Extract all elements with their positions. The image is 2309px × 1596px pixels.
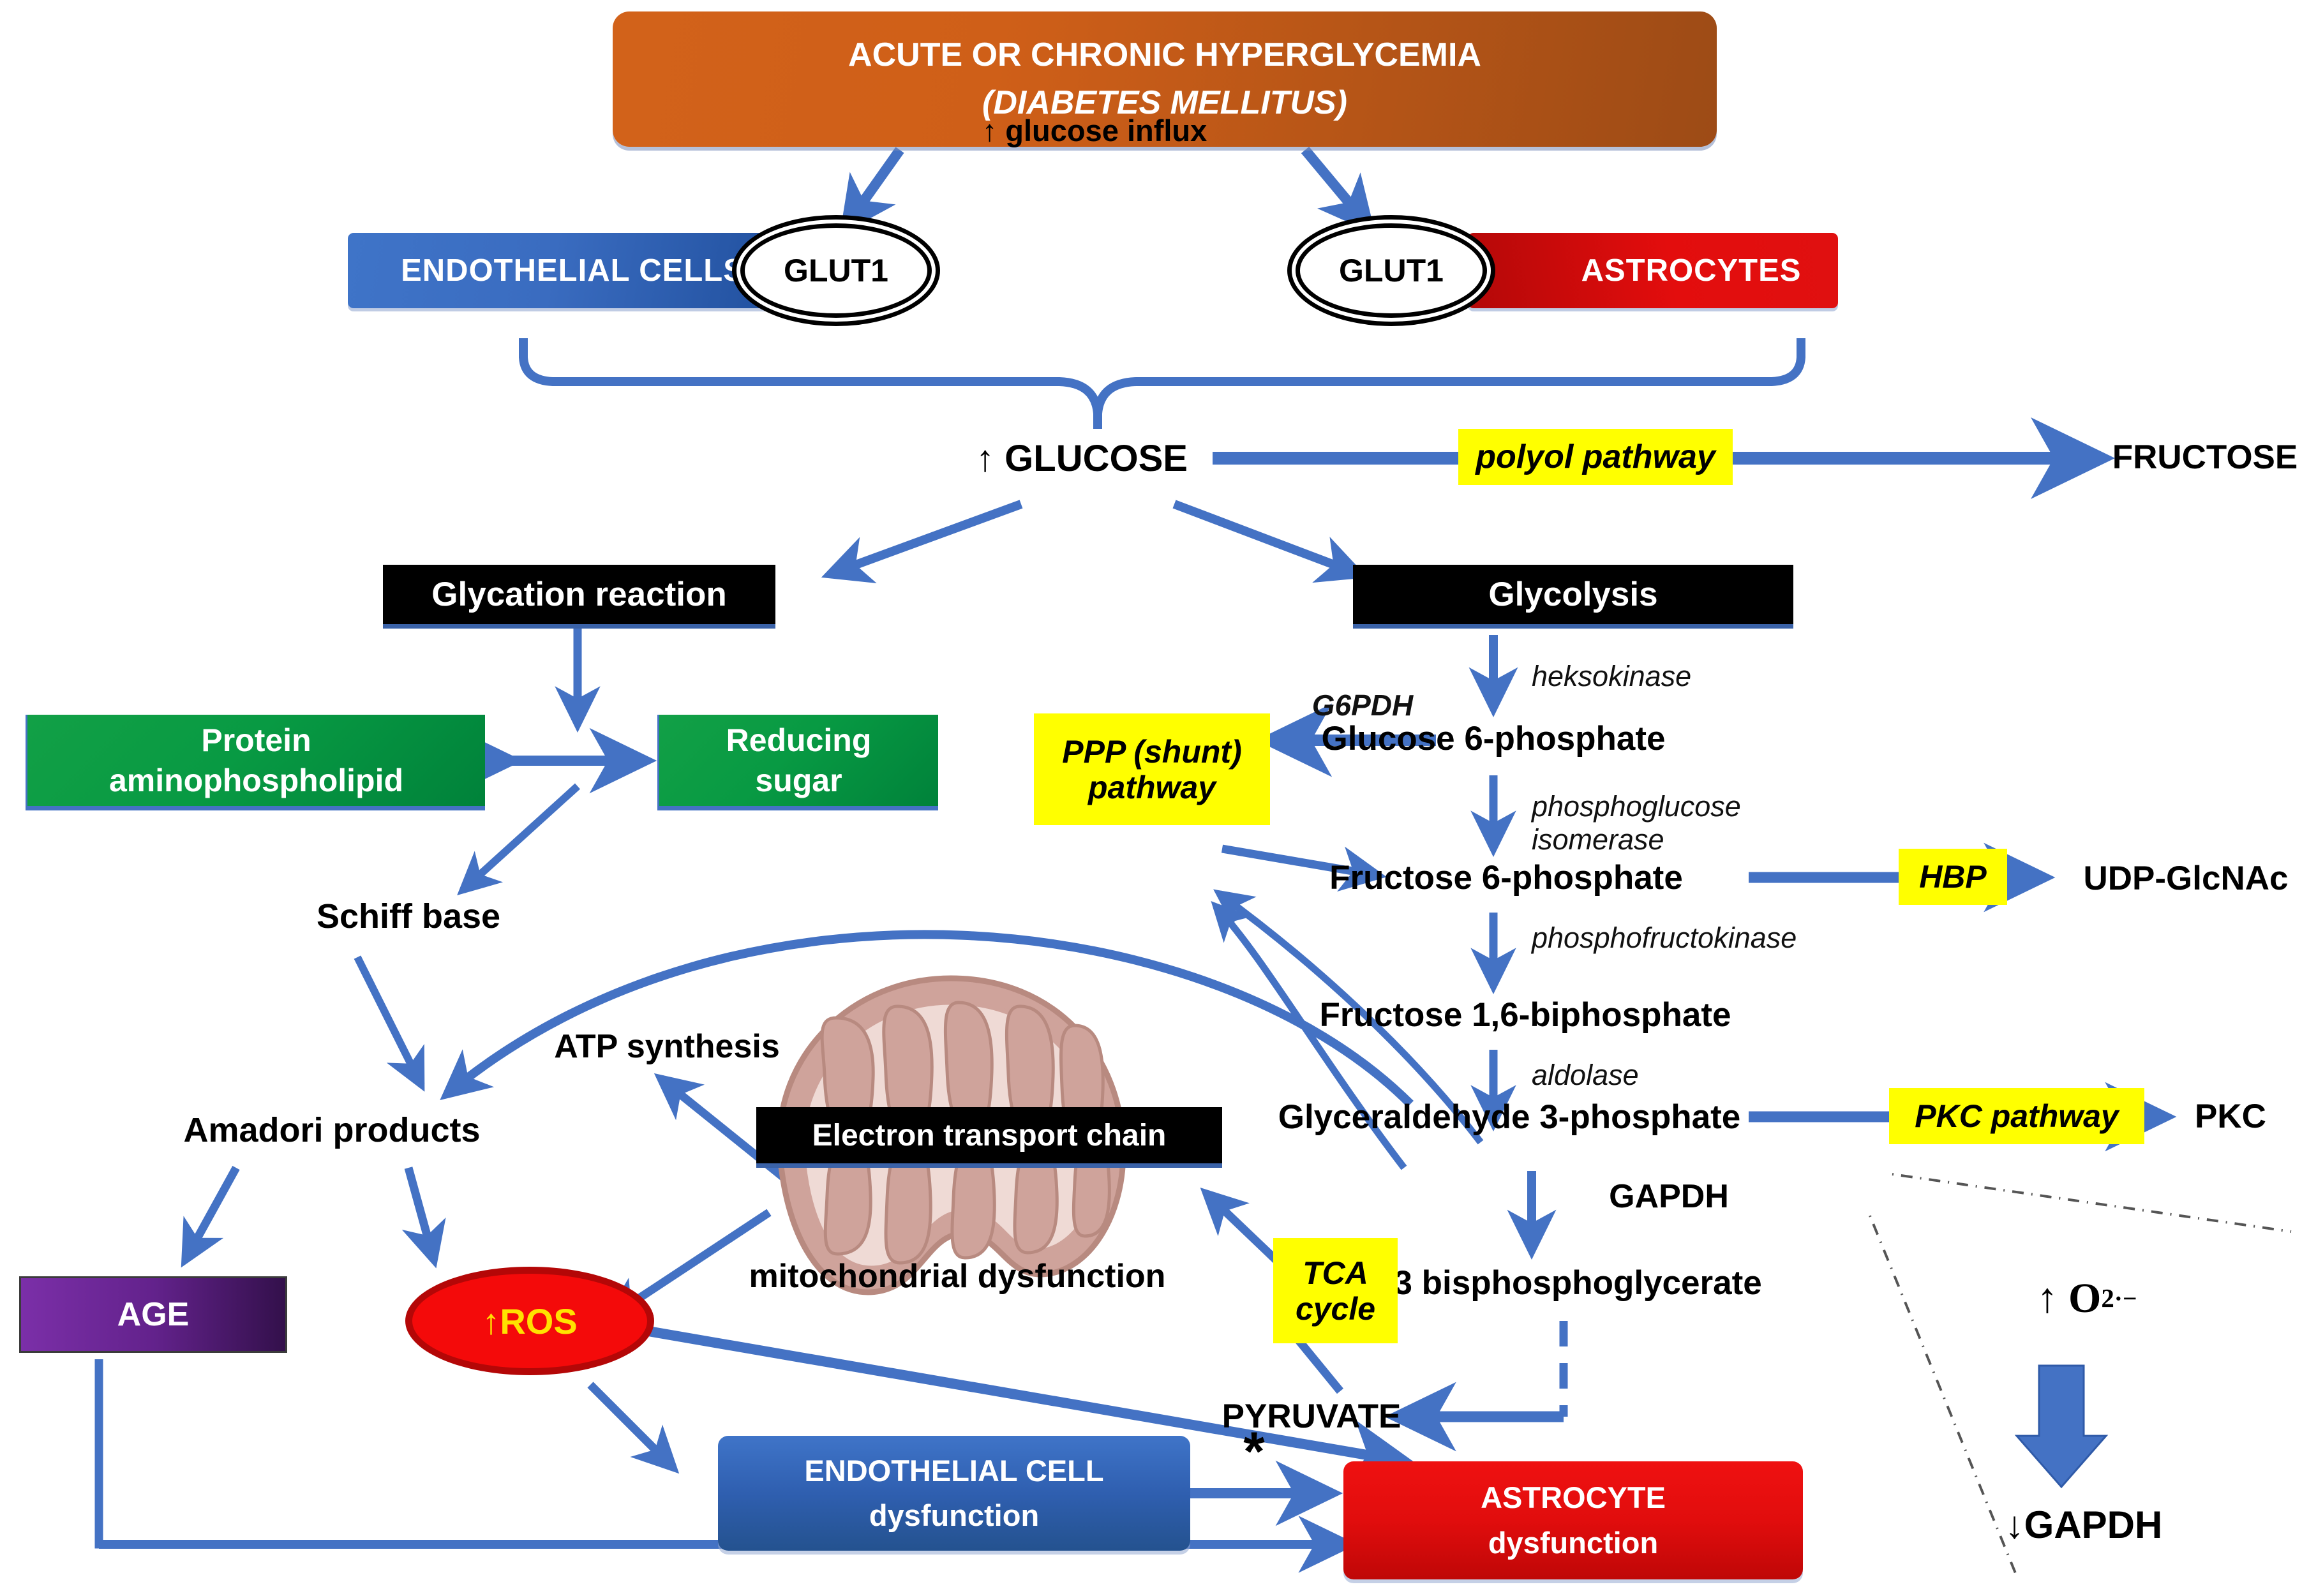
tca-line2: cycle: [1296, 1291, 1375, 1327]
atp-synthesis-label: ATP synthesis: [533, 1024, 801, 1069]
superoxide-sub: 2: [2101, 1285, 2114, 1313]
asterisk-annotation: *: [1225, 1423, 1283, 1480]
fructose-16-biphosphate-label: Fructose 1,6-biphosphate: [1270, 992, 1781, 1038]
udp-glcnac-label: UDP-GlcNAc: [2061, 856, 2309, 901]
ros-ellipse: ↑ROS: [405, 1267, 654, 1375]
glyceraldehyde-3-phosphate-label: Glyceraldehyde 3-phosphate: [1229, 1094, 1790, 1140]
fructose-label: FRUCTOSE: [2103, 435, 2307, 480]
pkc-pathway-chip: PKC pathway: [1889, 1088, 2144, 1144]
reducing-line1: Reducing: [726, 720, 872, 761]
ppp-line1: PPP (shunt): [1062, 734, 1241, 770]
astrocyte-dysfunction-line2: dysfunction: [1488, 1521, 1658, 1566]
polyol-pathway-chip: polyol pathway: [1458, 429, 1733, 485]
astrocyte-dysfunction-line1: ASTROCYTE: [1481, 1475, 1666, 1521]
reducing-sugar-box: Reducing sugar: [657, 715, 938, 810]
schiff-base-label: Schiff base: [281, 893, 536, 939]
endothelial-dysfunction-line2: dysfunction: [869, 1493, 1039, 1539]
endothelial-cell-dysfunction-box: ENDOTHELIAL CELL dysfunction: [718, 1436, 1190, 1551]
electron-transport-chain-box: Electron transport chain: [756, 1107, 1222, 1168]
amadori-products-label: Amadori products: [153, 1107, 511, 1153]
glut1-transporter-right: GLUT1: [1296, 223, 1487, 318]
endothelial-cells-bar: ENDOTHELIAL CELLS: [348, 233, 798, 308]
age-box: AGE: [19, 1276, 287, 1353]
ppp-shunt-chip: PPP (shunt) pathway: [1034, 713, 1270, 825]
phosphoglucose-line2: isomerase: [1532, 823, 1664, 856]
superoxide-block-arrow: [2017, 1366, 2106, 1487]
protein-aminophospholipid-box: Protein aminophospholipid: [26, 715, 485, 810]
glucose-influx-label: ↑ glucose influx: [929, 112, 1260, 150]
phosphoglucose-isomerase-label: phosphoglucose isomerase: [1532, 782, 1838, 865]
superoxide-label: ↑ O2·−: [1972, 1270, 2202, 1327]
pathway-diagram: ACUTE OR CHRONIC HYPERGLYCEMIA (DIABETES…: [0, 0, 2309, 1596]
gapdh-down-label: ↓GAPDH: [1950, 1500, 2218, 1551]
hyperglycemia-line1: ACUTE OR CHRONIC HYPERGLYCEMIA: [848, 31, 1481, 79]
protein-line1: Protein: [201, 720, 311, 761]
pkc-label: PKC: [2170, 1094, 2291, 1139]
hexokinase-label: heksokinase: [1532, 657, 1800, 696]
glycolysis-box: Glycolysis: [1353, 565, 1793, 629]
superoxide-sup: ·−: [2114, 1285, 2137, 1313]
phosphofructokinase-label: phosphofructokinase: [1532, 919, 1915, 957]
superoxide-up: ↑ O: [2036, 1276, 2101, 1321]
phosphoglucose-line1: phosphoglucose: [1532, 790, 1741, 823]
tca-cycle-chip: TCA cycle: [1273, 1238, 1398, 1343]
gapdh-label: GAPDH: [1567, 1174, 1771, 1219]
glycation-reaction-box: Glycation reaction: [383, 565, 775, 629]
hbp-chip: HBP: [1899, 849, 2007, 905]
ppp-line2: pathway: [1088, 770, 1216, 805]
reducing-line2: sugar: [755, 761, 842, 801]
mitochondrial-dysfunction-label: mitochondrial dysfunction: [702, 1254, 1213, 1299]
protein-line2: aminophospholipid: [109, 761, 403, 801]
glucose-label: ↑ GLUCOSE: [945, 434, 1219, 484]
glut1-transporter-left: GLUT1: [740, 223, 932, 318]
fructose-6-phosphate-label: Fructose 6-phosphate: [1270, 855, 1742, 901]
g6pdh-label: G6PDH: [1286, 686, 1439, 724]
endothelial-dysfunction-line1: ENDOTHELIAL CELL: [804, 1449, 1103, 1494]
astrocytes-bar: ASTROCYTES: [1468, 233, 1838, 308]
tca-line1: TCA: [1303, 1255, 1368, 1291]
astrocyte-dysfunction-box: ASTROCYTE dysfunction: [1343, 1461, 1803, 1579]
aldolase-label: aldolase: [1532, 1056, 1742, 1094]
